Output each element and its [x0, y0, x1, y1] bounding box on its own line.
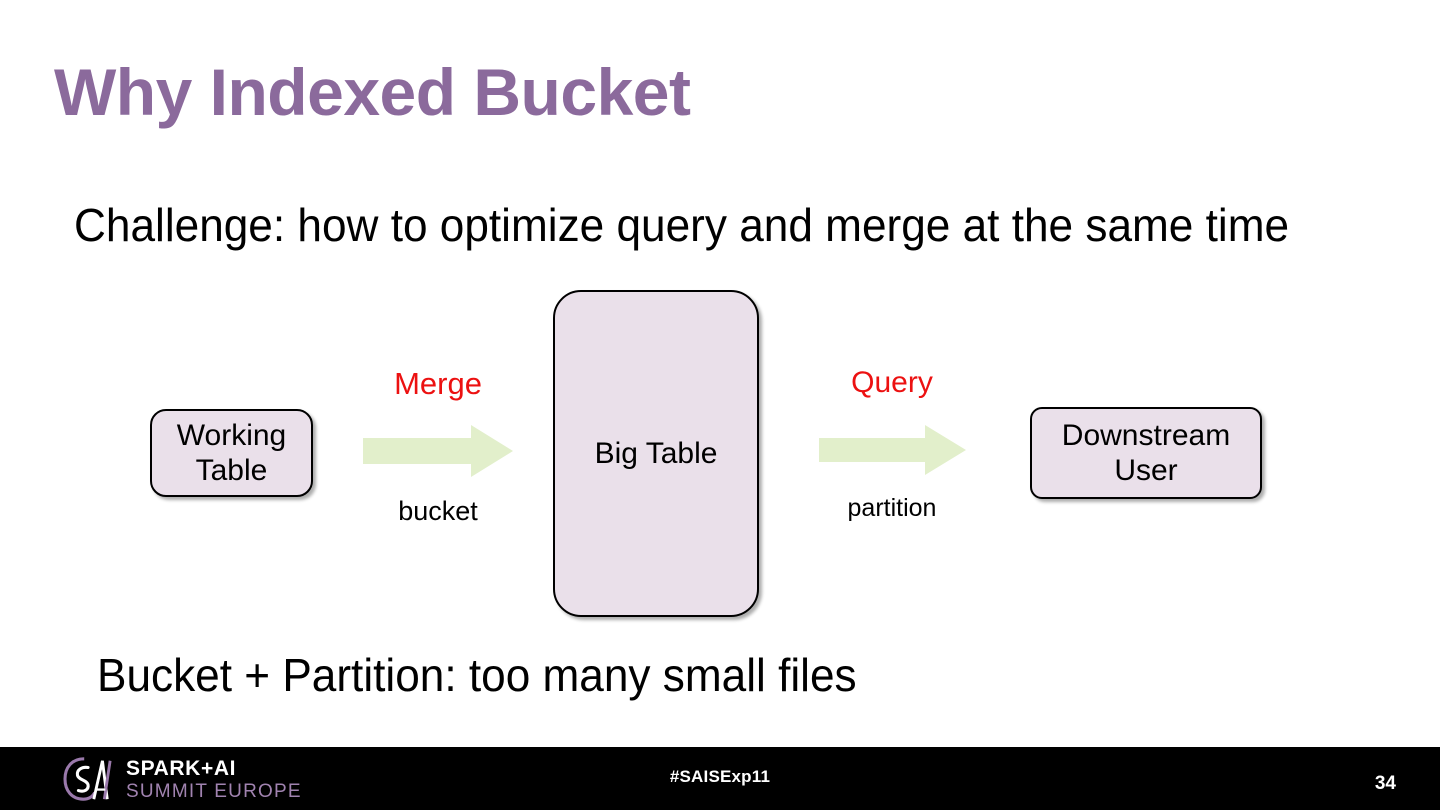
page-number: 34	[1375, 773, 1396, 795]
flow-merge: Merge bucket	[348, 368, 528, 525]
brand-logo-text: SPARK+AI SUMMIT EUROPE	[126, 758, 302, 801]
pipeline-diagram: Working Table Merge bucket Big Table Que…	[0, 0, 1440, 740]
arrow-right-icon	[363, 424, 513, 478]
footer-bar: SPARK+AI SUMMIT EUROPE #SAISExp11 34	[0, 747, 1440, 810]
flow-merge-action-label: Merge	[348, 368, 528, 402]
slide-canvas: Why Indexed Bucket Challenge: how to opt…	[0, 0, 1440, 810]
flow-query-action-label: Query	[802, 368, 982, 402]
node-label-big-table: Big Table	[595, 436, 718, 471]
spark-ai-summit-logo-icon	[62, 755, 116, 803]
flow-query-sub-label: partition	[802, 496, 982, 521]
diagram-node-downstream-user: Downstream User	[1030, 407, 1262, 499]
node-label-downstream-user: Downstream User	[1062, 418, 1230, 489]
diagram-node-big-table: Big Table	[553, 290, 759, 617]
flow-merge-sub-label: bucket	[348, 498, 528, 525]
brand-name-primary: SPARK+AI	[126, 758, 302, 779]
brand-logo: SPARK+AI SUMMIT EUROPE	[62, 753, 302, 805]
arrow-right-icon	[819, 424, 966, 476]
node-label-working-table: Working Table	[177, 418, 286, 489]
brand-name-secondary: SUMMIT EUROPE	[126, 782, 302, 801]
conclusion-statement: Bucket + Partition: too many small files	[97, 650, 857, 701]
flow-query: Query partition	[802, 368, 982, 521]
diagram-node-working-table: Working Table	[150, 409, 313, 497]
